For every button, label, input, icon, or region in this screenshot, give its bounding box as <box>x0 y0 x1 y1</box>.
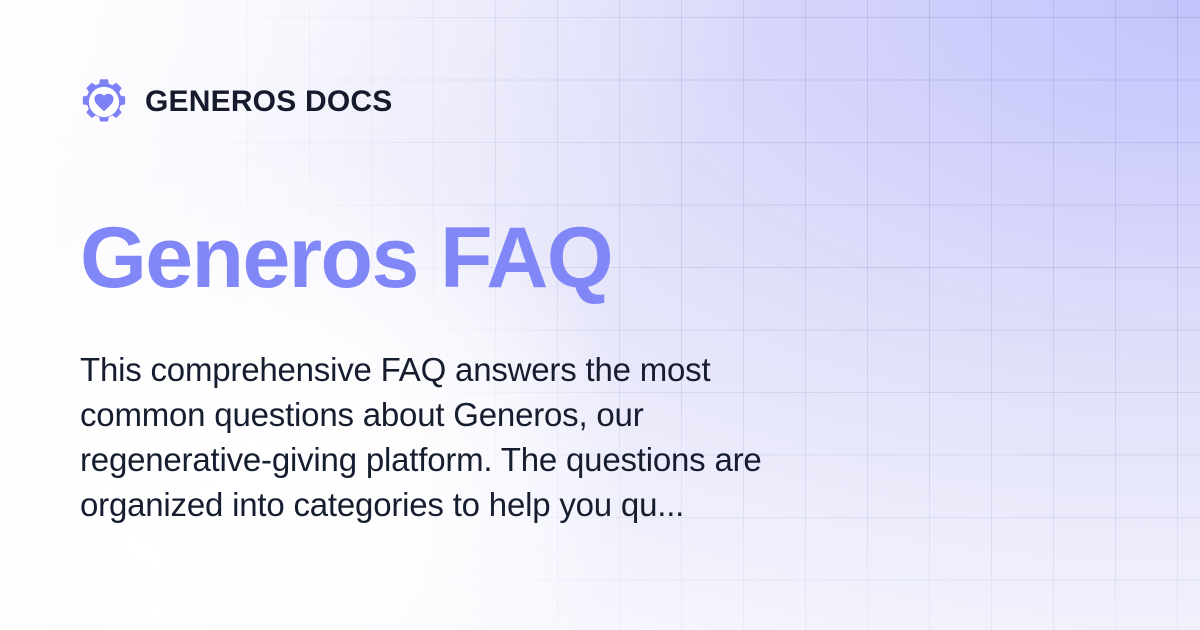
gear-heart-icon <box>80 78 128 126</box>
brand-lockup: GENEROS DOCS <box>80 78 392 126</box>
card-content: GENEROS DOCS Generos FAQ This comprehens… <box>0 0 1200 630</box>
brand-name: GENEROS DOCS <box>145 87 392 117</box>
page-title: Generos FAQ <box>80 215 612 301</box>
page-description: This comprehensive FAQ answers the most … <box>80 348 840 528</box>
og-card: GENEROS DOCS Generos FAQ This comprehens… <box>0 0 1200 630</box>
